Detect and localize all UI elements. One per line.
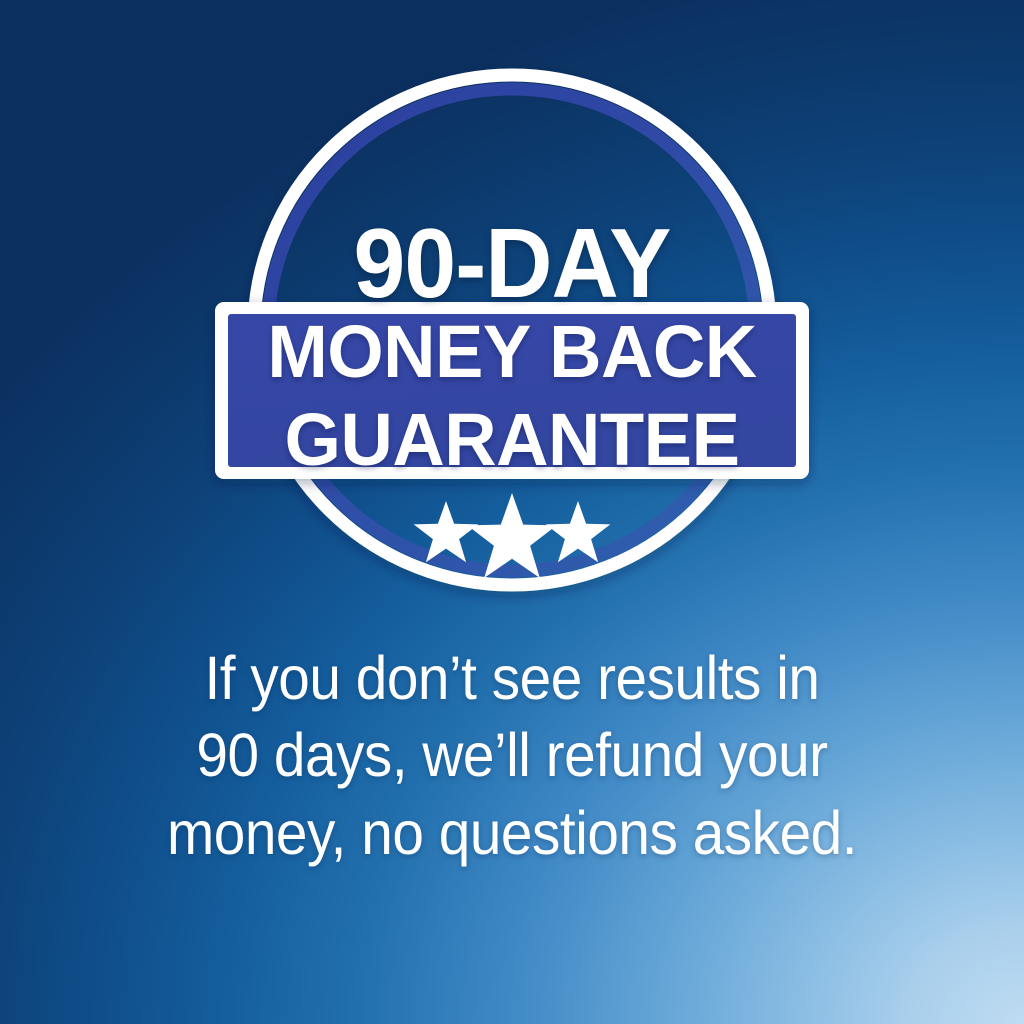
guarantee-promo-canvas: 90-DAY MONEY BACK GUARANTEE If you don’t… bbox=[0, 0, 1024, 1024]
banner-line-guarantee: GUARANTEE bbox=[10, 403, 1014, 477]
guarantee-caption: If you don’t see results in 90 days, we’… bbox=[36, 640, 988, 872]
badge-headline: 90-DAY bbox=[26, 214, 999, 312]
banner-line-money-back: MONEY BACK bbox=[10, 315, 1014, 389]
money-back-guarantee-badge: 90-DAY MONEY BACK GUARANTEE bbox=[0, 62, 1024, 602]
caption-line-1: If you don’t see results in bbox=[36, 640, 988, 717]
caption-line-3: money, no questions asked. bbox=[36, 795, 988, 872]
banner-text: MONEY BACK GUARANTEE bbox=[0, 315, 1024, 477]
caption-line-2: 90 days, we’ll refund your bbox=[36, 717, 988, 794]
